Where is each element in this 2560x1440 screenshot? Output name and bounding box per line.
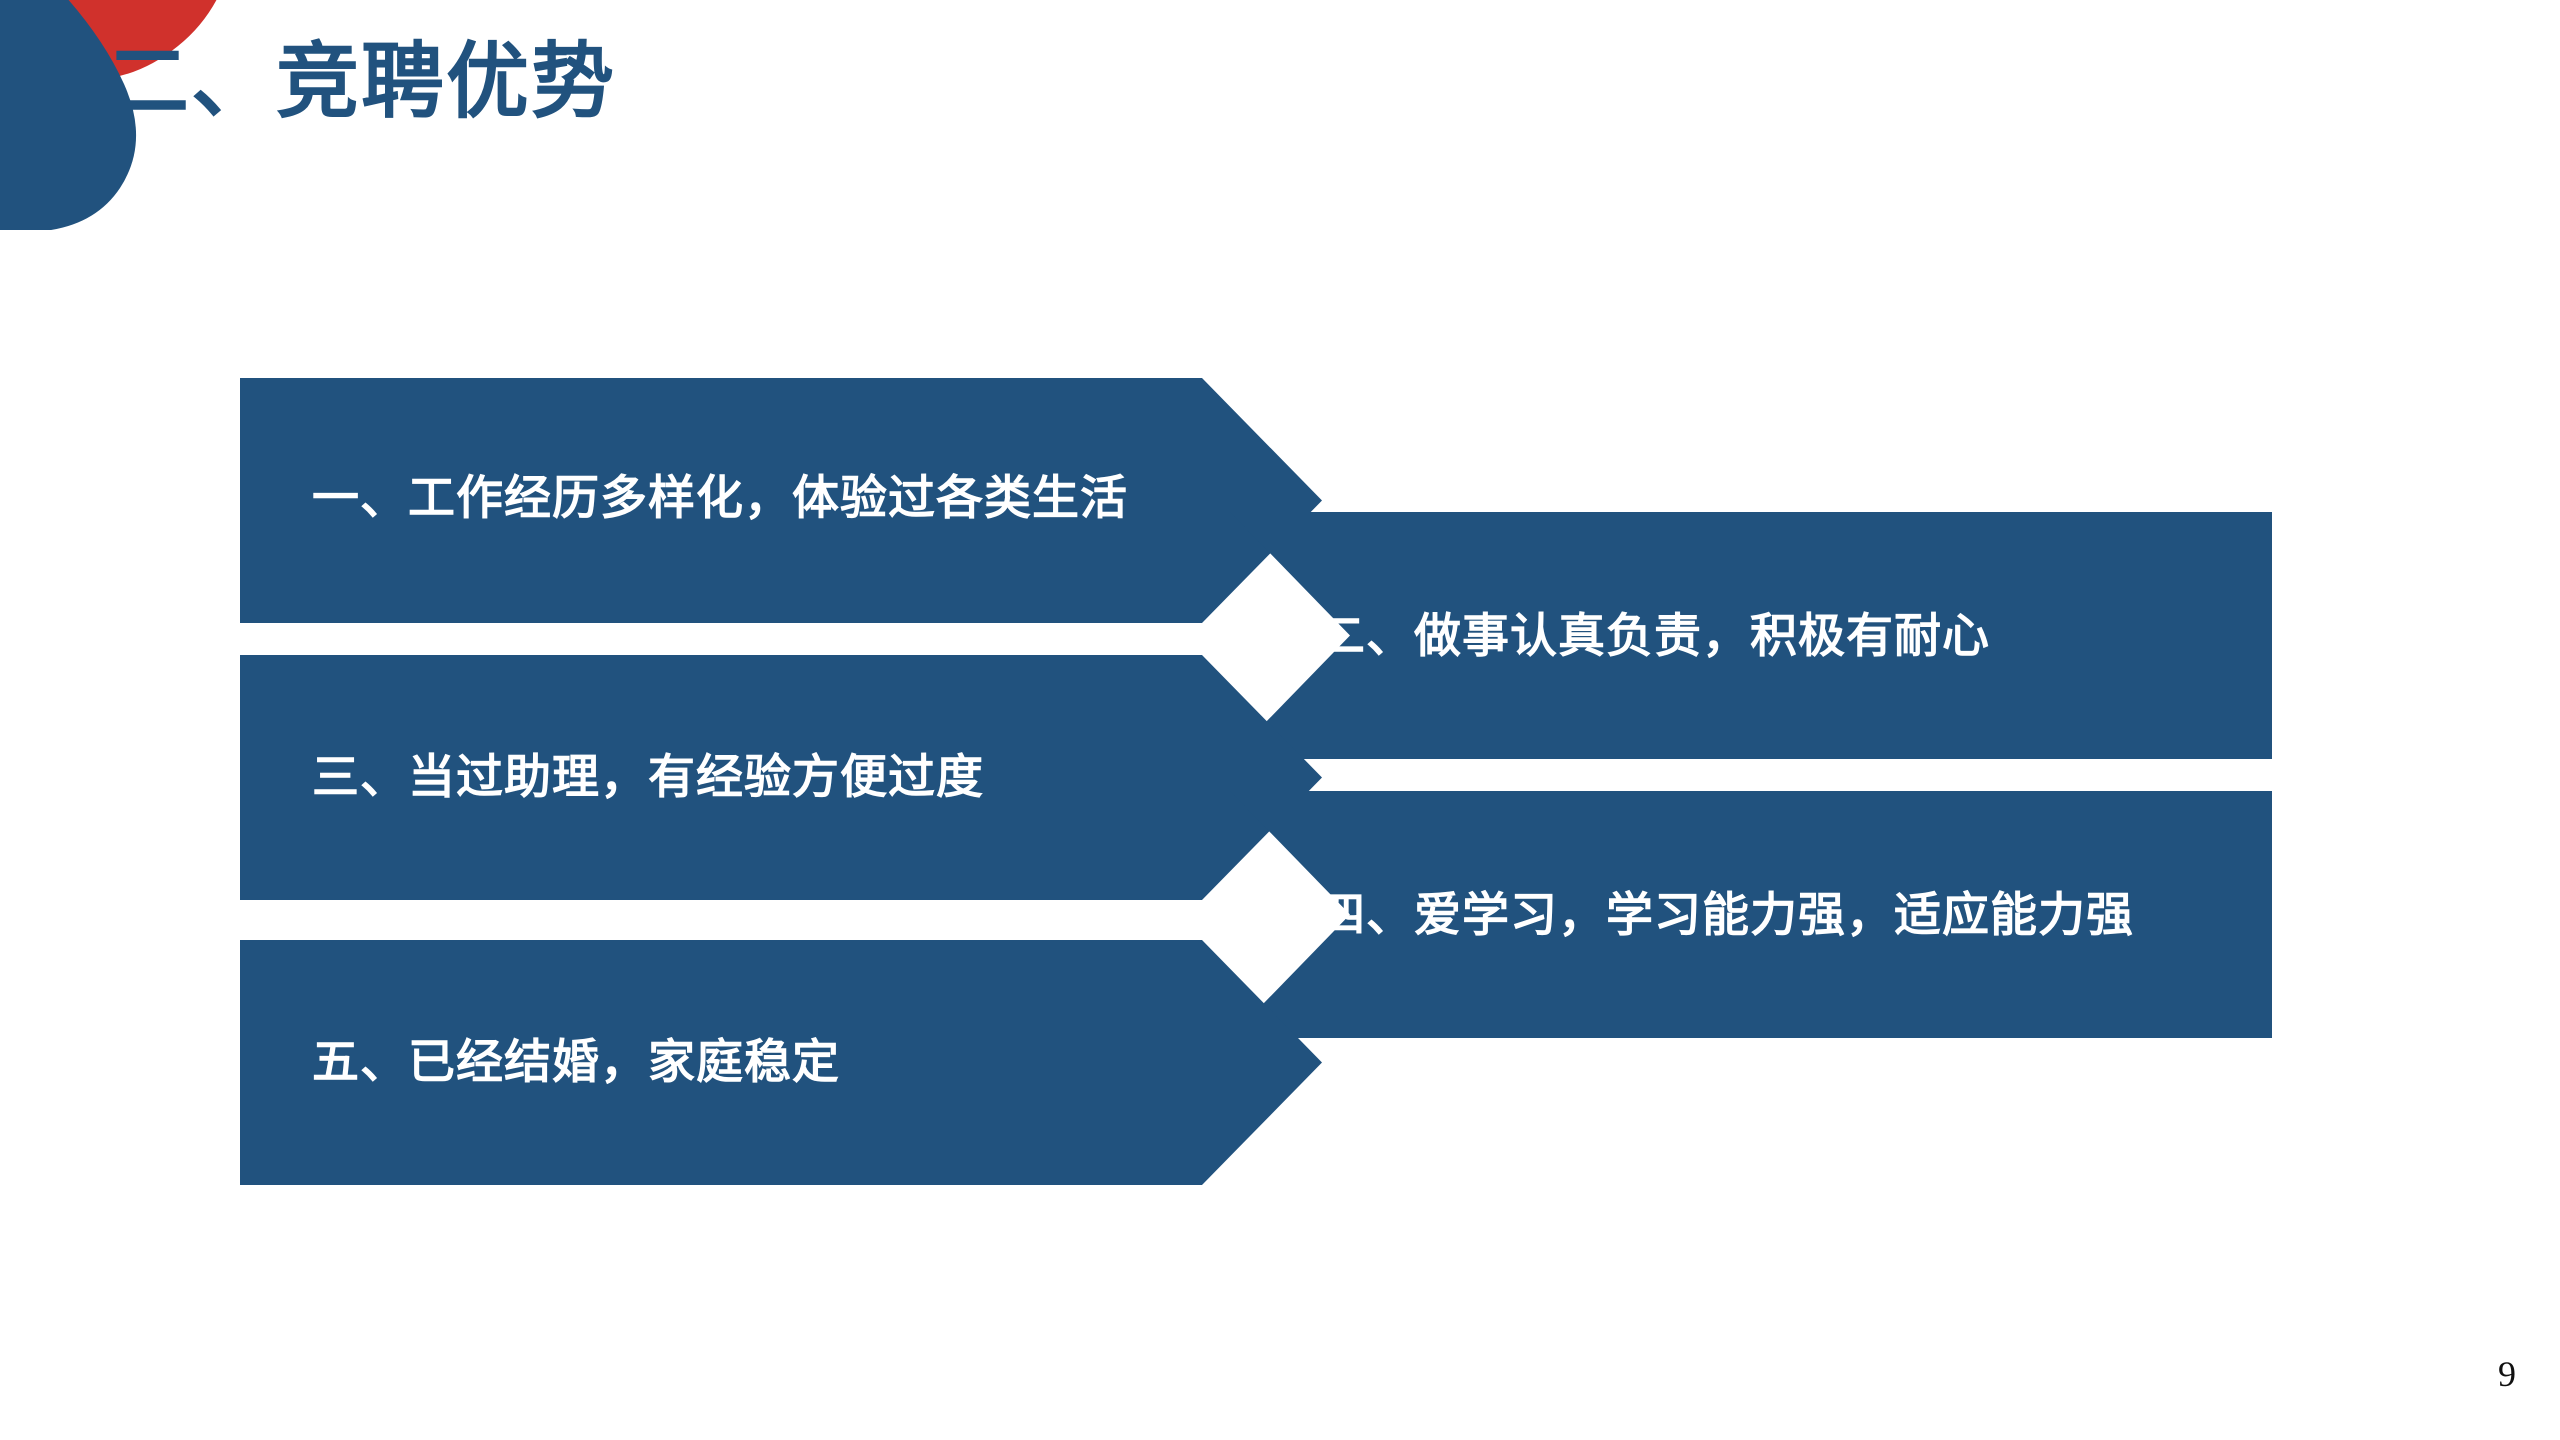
chevron-item-5-label: 五、已经结婚，家庭稳定 [312, 1038, 840, 1085]
chevron-item-2[interactable]: 二、做事认真负责，积极有耐心 [1230, 512, 2272, 759]
page-number: 9 [2498, 1353, 2516, 1395]
chevron-item-1-label: 一、工作经历多样化，体验过各类生活 [312, 474, 1128, 521]
chevron-item-5[interactable]: 五、已经结婚，家庭稳定 [240, 940, 1322, 1185]
slide-canvas: 二、竞聘优势 一、工作经历多样化，体验过各类生活 二、做事认真负责，积极有耐心 … [0, 0, 2560, 1440]
chevron-item-3-label: 三、当过助理，有经验方便过度 [312, 753, 984, 800]
chevron-item-4[interactable]: 四、爱学习，学习能力强，适应能力强 [1230, 791, 2272, 1038]
advantages-diagram: 一、工作经历多样化，体验过各类生活 二、做事认真负责，积极有耐心 三、当过助理，… [0, 0, 2560, 1440]
chevron-item-4-label: 四、爱学习，学习能力强，适应能力强 [1318, 891, 2134, 938]
chevron-item-2-label: 二、做事认真负责，积极有耐心 [1318, 612, 1990, 659]
chevron-item-1[interactable]: 一、工作经历多样化，体验过各类生活 [240, 378, 1322, 623]
chevron-item-3[interactable]: 三、当过助理，有经验方便过度 [240, 655, 1322, 900]
